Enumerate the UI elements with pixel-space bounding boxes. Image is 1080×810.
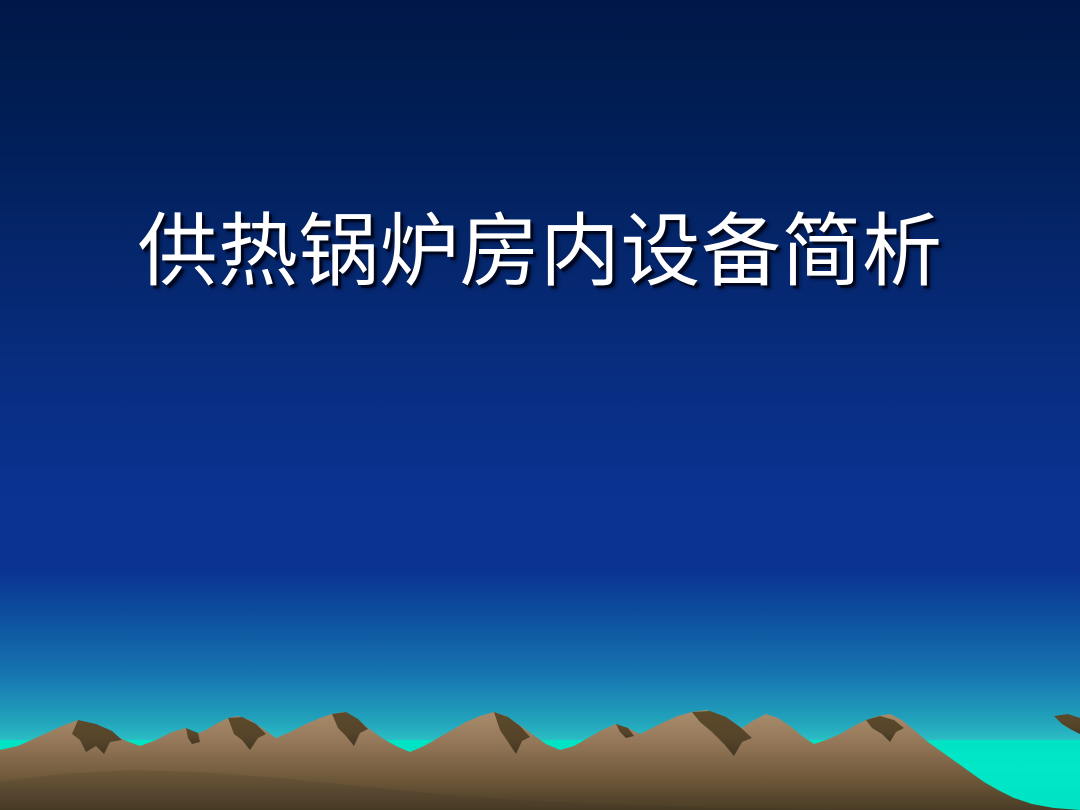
mountain-range-silhouette bbox=[0, 690, 1080, 810]
page-title: 供热锅炉房内设备简析 bbox=[138, 210, 943, 296]
presentation-slide: 供热锅炉房内设备简析 bbox=[0, 0, 1080, 810]
gradient-sky-background bbox=[0, 0, 1080, 810]
slide-title-block: 供热锅炉房内设备简析 bbox=[0, 210, 1080, 296]
